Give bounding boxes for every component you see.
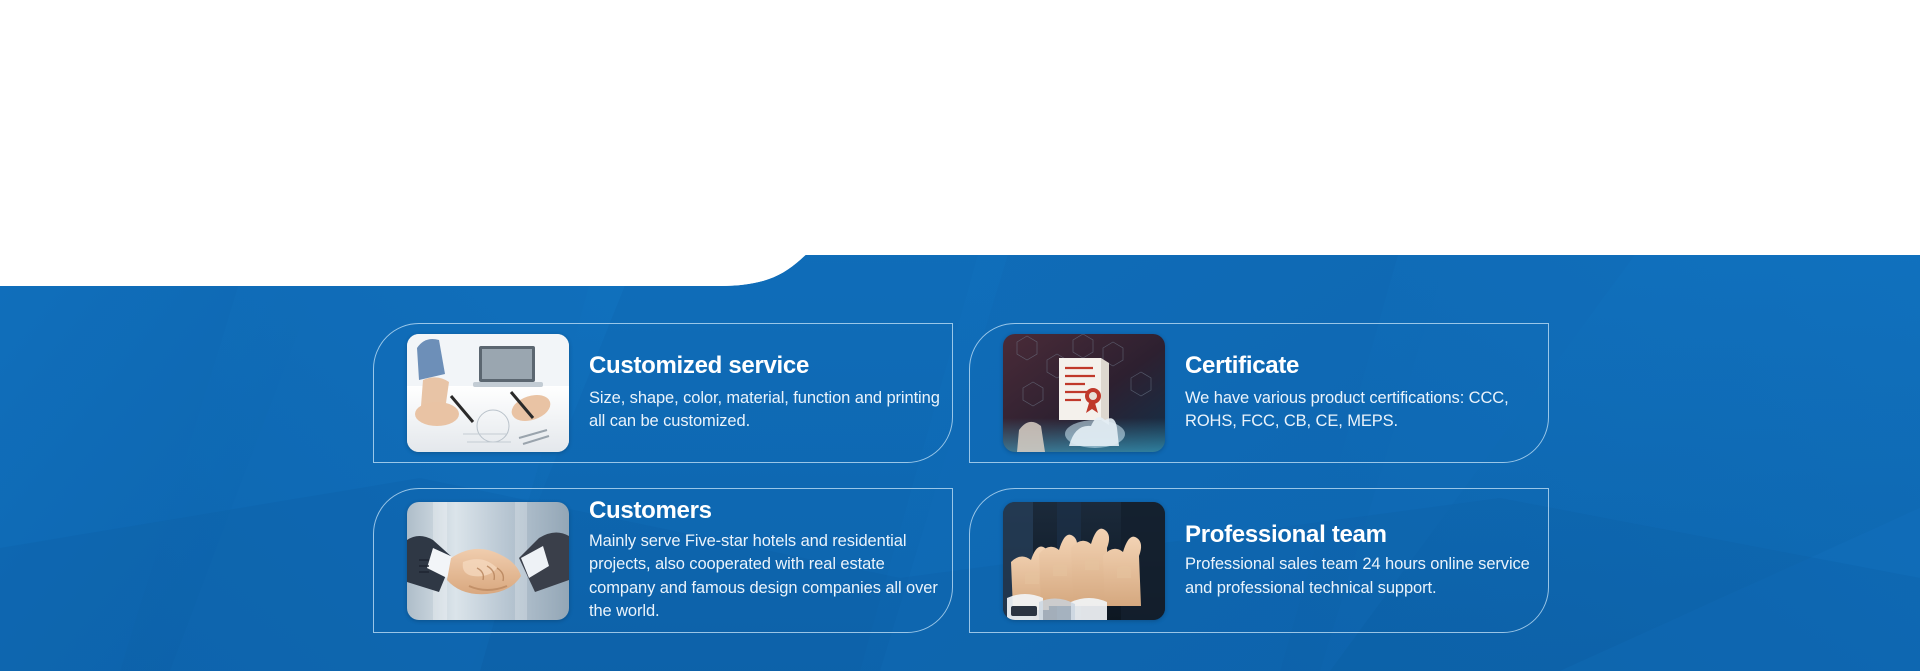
card-description: We have various product certifications: … [1185, 387, 1536, 434]
advantage-card-customers[interactable]: Customers Mainly serve Five-star hotels … [373, 488, 953, 633]
card-title: Certificate [1185, 352, 1536, 380]
advantage-card-certificate[interactable]: Certificate We have various product cert… [969, 323, 1549, 463]
section-curve-divider [0, 218, 1920, 303]
card-text: Certificate We have various product cert… [1185, 352, 1548, 433]
advantages-page: Customized service Size, shape, color, m… [0, 0, 1920, 671]
card-description: Size, shape, color, material, function a… [589, 387, 940, 434]
card-title: Customized service [589, 352, 940, 380]
card-title: Customers [589, 497, 940, 525]
advantages-blue-panel: Customized service Size, shape, color, m… [0, 248, 1920, 671]
card-text: Customized service Size, shape, color, m… [589, 352, 952, 433]
card-description: Professional sales team 24 hours online … [1185, 553, 1536, 600]
card-text: Customers Mainly serve Five-star hotels … [589, 497, 952, 623]
card-title: Professional team [1185, 521, 1536, 549]
advantage-card-professional-team[interactable]: Professional team Professional sales tea… [969, 488, 1549, 633]
advantages-header-panel [0, 0, 1920, 255]
advantage-cards: Customized service Size, shape, color, m… [0, 248, 1920, 671]
handshake-photo [407, 502, 569, 620]
thumbs-up-team-photo [1003, 502, 1165, 620]
card-description: Mainly serve Five-star hotels and reside… [589, 530, 940, 624]
designers-drafting-photo [407, 334, 569, 452]
advantage-card-customized-service[interactable]: Customized service Size, shape, color, m… [373, 323, 953, 463]
certificate-document-photo [1003, 334, 1165, 452]
card-text: Professional team Professional sales tea… [1185, 521, 1548, 600]
